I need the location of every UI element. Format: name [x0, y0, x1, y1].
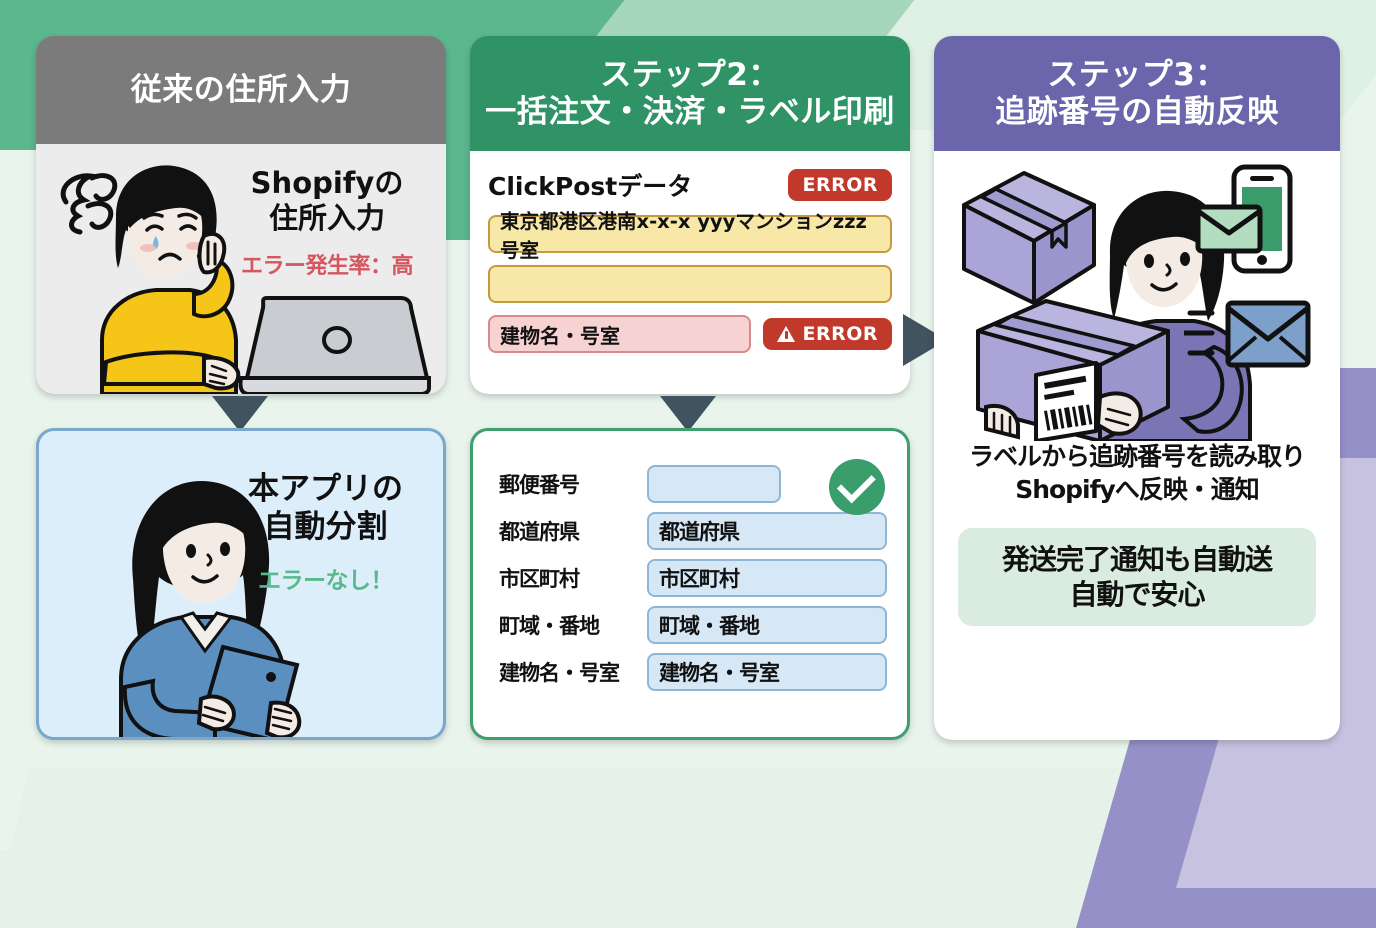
warning-triangle-icon [777, 326, 795, 342]
envelope-blue-icon [1184, 291, 1314, 381]
panel-app-subtitle: エラーなし！ [218, 561, 433, 595]
smartphone-icon [1192, 161, 1312, 281]
envelope-green-icon [1198, 207, 1260, 251]
form-label-building: 建物名・号室 [499, 657, 647, 687]
panel-step3-illustration-area [934, 151, 1340, 441]
panel-legacy-text-block: Shopifyの 住所入力 エラー発生率：高 [222, 166, 432, 280]
clickpost-blank-field[interactable] [488, 265, 892, 303]
form-row: 都道府県 都道府県 [499, 512, 887, 550]
arrow-down-icon-legacy-to-app [212, 396, 268, 432]
panel-step3-header-line2: 追跡番号の自動反映 [995, 94, 1279, 131]
form-input-town[interactable]: 町域・番地 [647, 606, 887, 644]
clickpost-title: ClickPostデータ [488, 167, 692, 203]
panel-legacy-title: Shopifyの 住所入力 [222, 166, 432, 236]
panel-step2-header: ステップ2： 一括注文・決済・ラベル印刷 [470, 36, 910, 151]
panel-step3-description: ラベルから追跡番号を読み取り Shopifyへ反映・通知 [934, 441, 1340, 506]
form-label-city: 市区町村 [499, 563, 647, 593]
panel-legacy-header: 従来の住所入力 [36, 36, 446, 144]
panel-step3-note-line2: 自動で安心 [966, 577, 1308, 612]
check-mark-glyph [837, 464, 876, 503]
form-input-postal[interactable] [647, 465, 781, 503]
form-input-building[interactable]: 建物名・号室 [647, 653, 887, 691]
panel-split-form: 郵便番号 都道府県 都道府県 市区町村 市区町村 町域・番地 [470, 428, 910, 740]
panel-legacy-address-input: 従来の住所入力 [36, 36, 446, 394]
clickpost-address-value: 東京都港区港南x-x-x yyyマンションzzz号室 [500, 205, 880, 263]
clickpost-address-field[interactable]: 東京都港区港南x-x-x yyyマンションzzz号室 [488, 215, 892, 253]
form-row: 建物名・号室 建物名・号室 [499, 653, 887, 691]
panel-app-title: 本アプリの 自動分割 [218, 471, 433, 547]
panel-app-text-block: 本アプリの 自動分割 エラーなし！ [218, 471, 433, 595]
labeled-parcel-icon [968, 291, 1198, 441]
infographic-canvas: 従来の住所入力 [0, 0, 1376, 768]
panel-legacy-subtitle: エラー発生率：高 [222, 248, 432, 280]
error-badge-inline-label: ERROR [802, 323, 878, 345]
clickpost-building-row: 建物名・号室 ERROR [488, 315, 892, 353]
laptop-icon [231, 292, 431, 394]
check-circle-icon [829, 459, 885, 515]
panel-app-title-line2: 自動分割 [218, 509, 433, 547]
panel-app-title-line1: 本アプリの [218, 471, 433, 509]
panel-step3-desc-line1: ラベルから追跡番号を読み取り [942, 441, 1332, 474]
form-row: 町域・番地 町域・番地 [499, 606, 887, 644]
panel-step3-header: ステップ3： 追跡番号の自動反映 [934, 36, 1340, 151]
form-input-city[interactable]: 市区町村 [647, 559, 887, 597]
panel-step2-body: ClickPostデータ ERROR 東京都港区港南x-x-x yyyマンション… [470, 151, 910, 394]
form-value-prefecture: 都道府県 [659, 516, 739, 546]
form-label-postal: 郵便番号 [499, 469, 647, 499]
clickpost-title-row: ClickPostデータ ERROR [488, 167, 892, 203]
error-badge-top: ERROR [788, 169, 892, 201]
error-badge-top-label: ERROR [802, 174, 878, 196]
form-input-prefecture[interactable]: 都道府県 [647, 512, 887, 550]
arrow-down-icon-clickpost-to-form [660, 396, 716, 432]
panel-step3-note-line1: 発送完了通知も自動送 [966, 542, 1308, 577]
clickpost-building-field[interactable]: 建物名・号室 [488, 315, 751, 353]
panel-legacy-title-line1: Shopifyの [222, 166, 432, 201]
error-badge-inline: ERROR [763, 318, 892, 350]
panel-legacy-title-line2: 住所入力 [222, 201, 432, 236]
panel-app-auto-split: 本アプリの 自動分割 エラーなし！ [36, 428, 446, 740]
panel-step3-header-line1: ステップ3： [995, 57, 1279, 94]
panel-legacy-body: Shopifyの 住所入力 エラー発生率：高 [36, 144, 446, 394]
form-label-prefecture: 都道府県 [499, 516, 647, 546]
form-value-town: 町域・番地 [659, 610, 759, 640]
form-row: 市区町村 市区町村 [499, 559, 887, 597]
panel-step3-note: 発送完了通知も自動送 自動で安心 [958, 528, 1316, 626]
form-value-city: 市区町村 [659, 563, 739, 593]
panel-step2: ステップ2： 一括注文・決済・ラベル印刷 ClickPostデータ ERROR … [470, 36, 910, 394]
panel-step3: ステップ3： 追跡番号の自動反映 [934, 36, 1340, 740]
clickpost-building-value: 建物名・号室 [500, 320, 620, 349]
panel-step3-body: ラベルから追跡番号を読み取り Shopifyへ反映・通知 発送完了通知も自動送 … [934, 151, 1340, 740]
form-label-town: 町域・番地 [499, 610, 647, 640]
panel-step2-header-line2: 一括注文・決済・ラベル印刷 [485, 94, 895, 131]
form-value-building: 建物名・号室 [659, 657, 779, 687]
panel-step3-desc-line2: Shopifyへ反映・通知 [942, 474, 1332, 507]
panel-step2-header-line1: ステップ2： [485, 57, 895, 94]
